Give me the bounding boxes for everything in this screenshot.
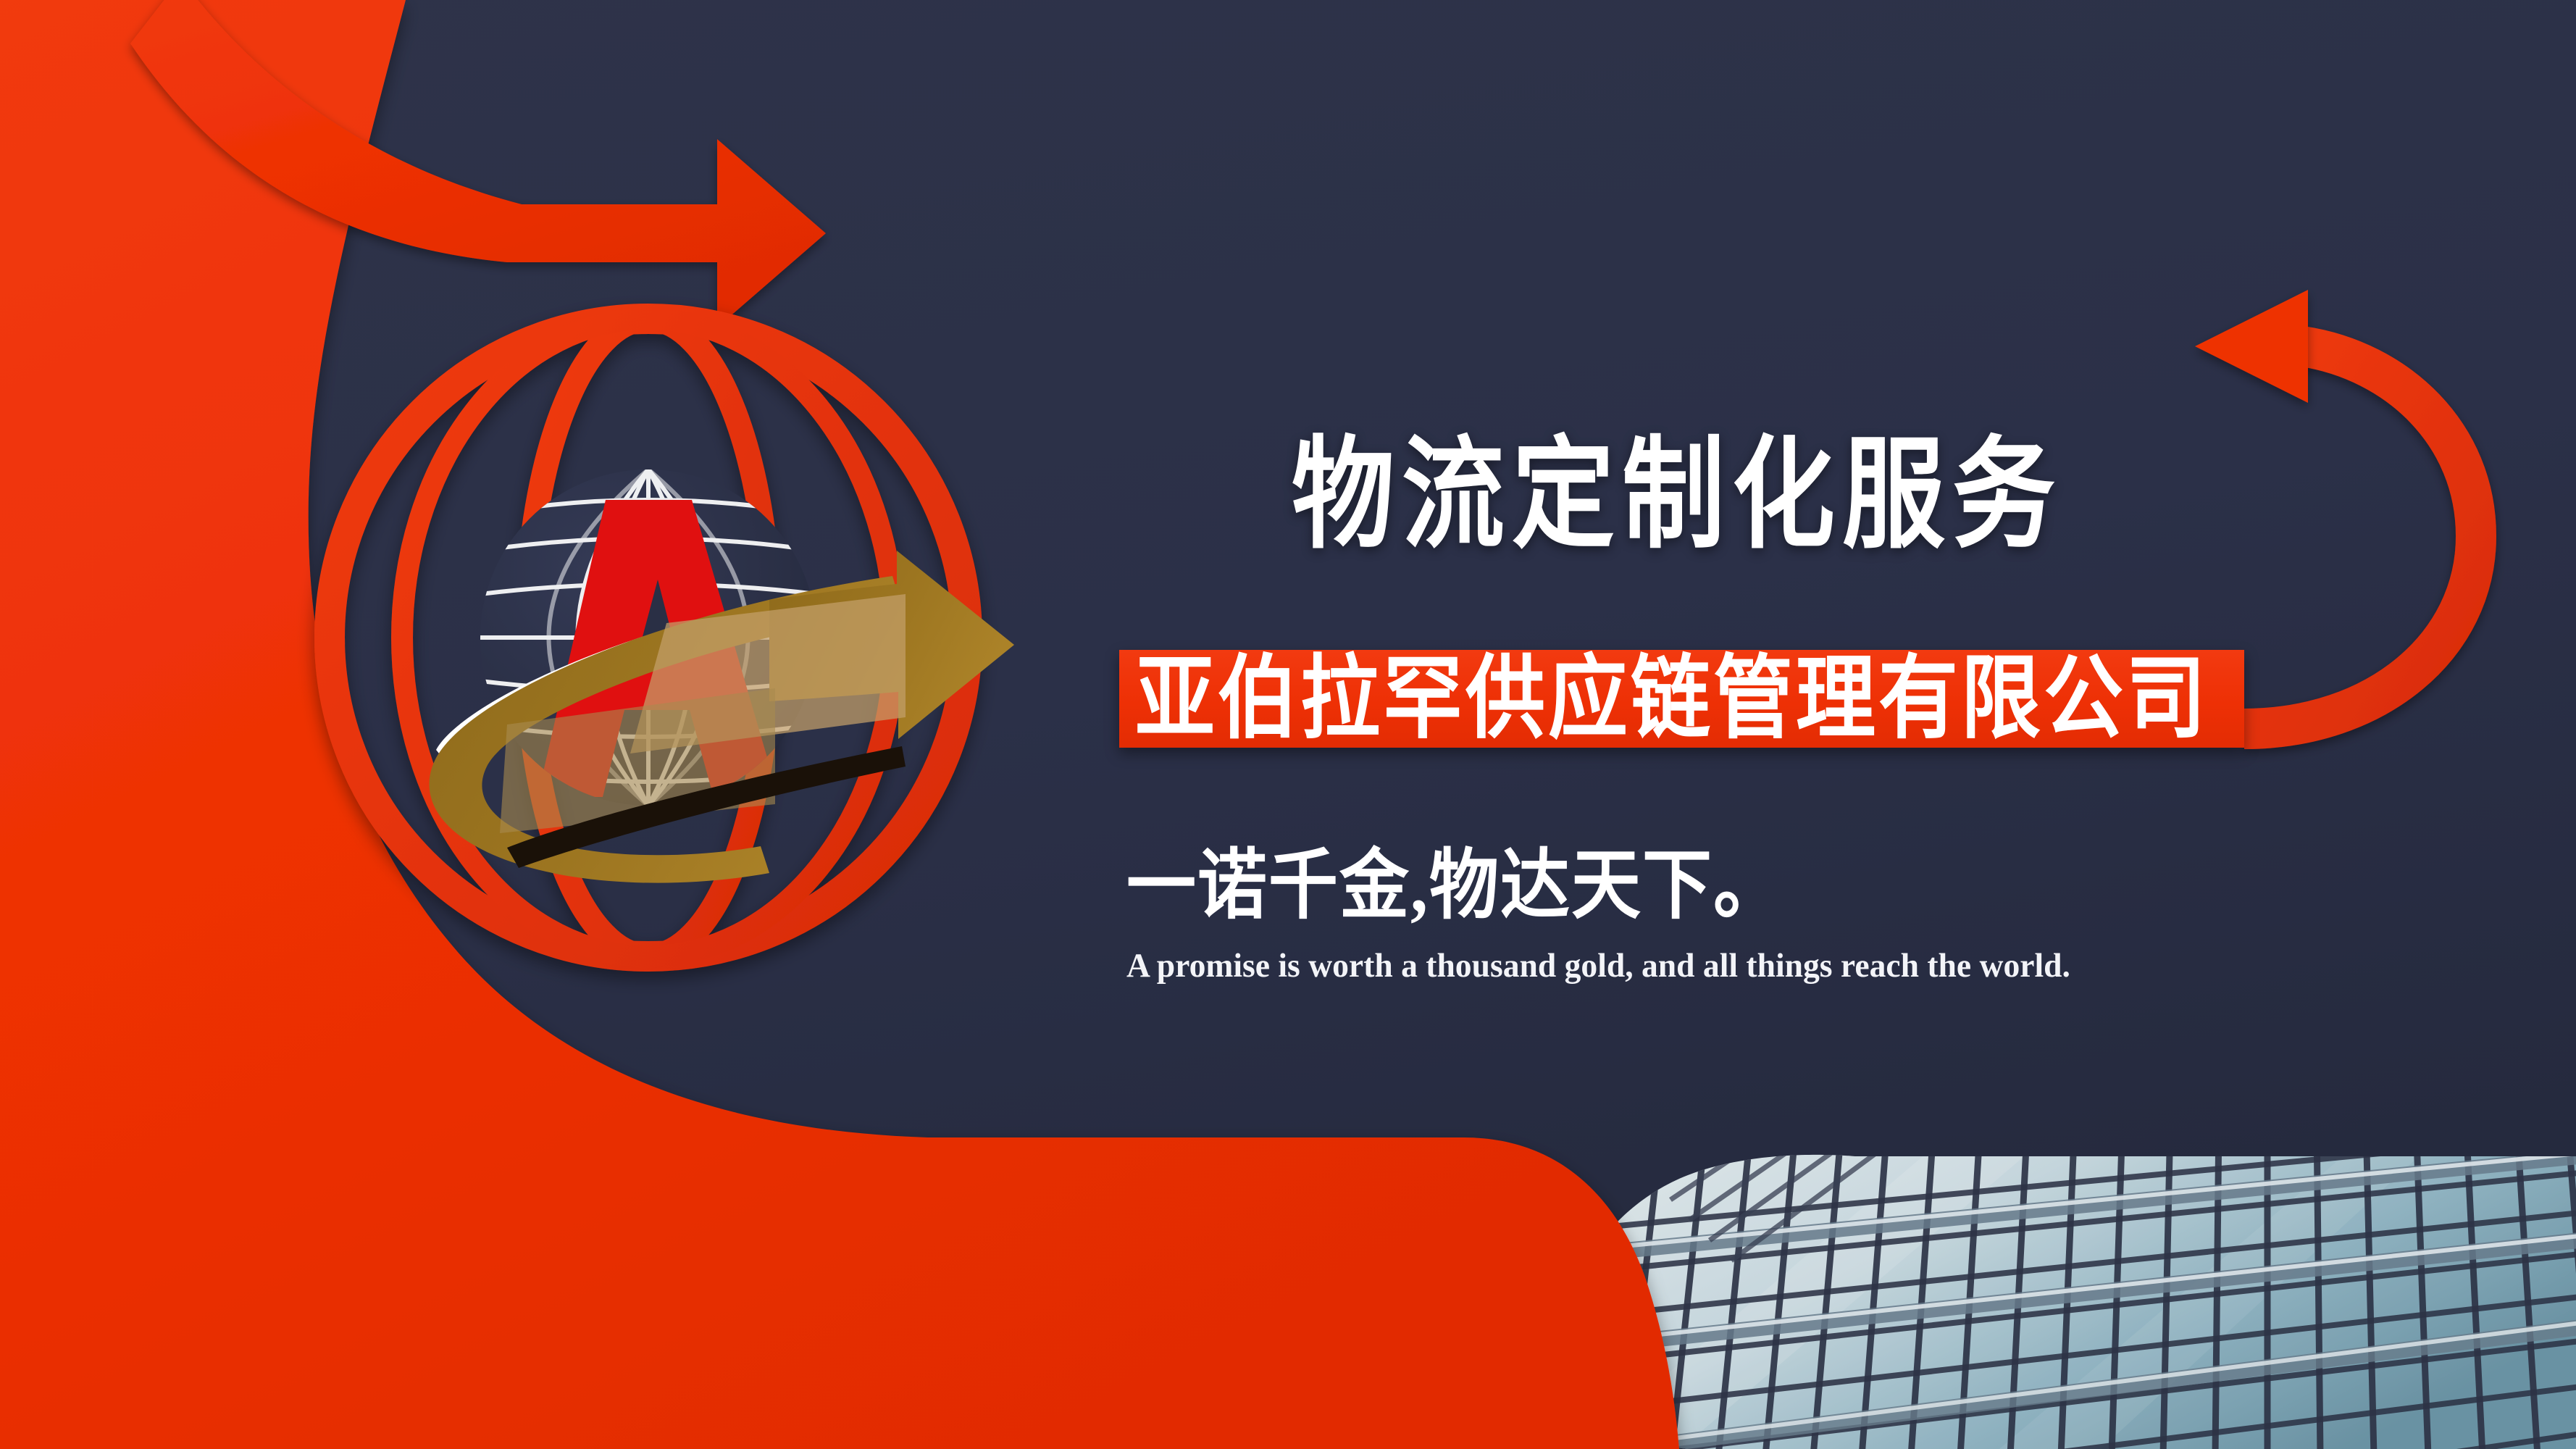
company-name-banner: 亚伯拉罕供应链管理有限公司 [1119,650,2244,748]
poster-canvas: 物流定制化服务 亚伯拉罕供应链管理有限公司 一诺千金,物达天下。 A promi… [0,0,2576,1449]
tagline-english: A promise is worth a thousand gold, and … [1126,949,2070,983]
tagline-chinese: 一诺千金,物达天下。 [1126,848,1784,924]
text-block: 物流定制化服务 亚伯拉罕供应链管理有限公司 一诺千金,物达天下。 A promi… [1119,435,2278,538]
page-title: 物流定制化服务 [1292,435,2278,556]
company-name: 亚伯拉罕供应链管理有限公司 [1135,653,2209,744]
